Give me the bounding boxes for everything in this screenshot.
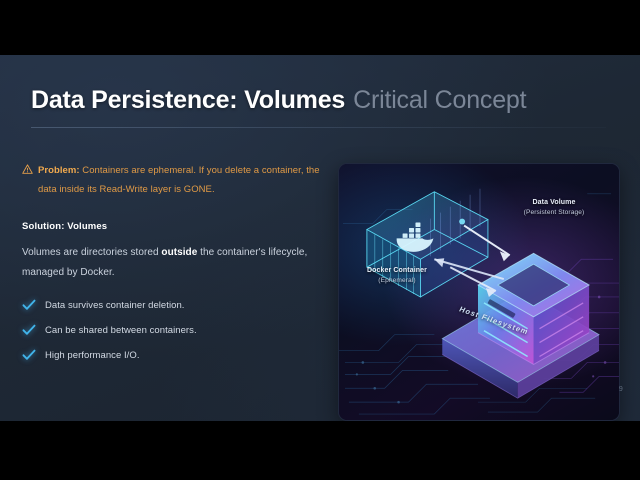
problem-callout: Problem: Containers are ephemeral. If yo… [22,162,328,199]
check-icon [22,349,36,361]
label-docker-container: Docker Container (Ephemeral) [338,266,457,286]
solution-body: Volumes are directories stored outside t… [22,243,312,282]
page-title: Data Persistence: VolumesCritical Concep… [31,88,611,113]
solution-body-part1: Volumes are directories stored [22,247,161,258]
list-item-label: High performance I/O. [45,350,140,361]
slide-viewer: Data Persistence: VolumesCritical Concep… [0,0,640,480]
benefits-list: Data survives container deletion. Can be… [22,300,328,362]
problem-text: Containers are ephemeral. If you delete … [38,165,320,195]
solution-body-emphasis: outside [161,247,197,258]
illustration-panel: Data Volume (Persistent Storage) Docker … [338,163,620,421]
check-icon [22,299,36,311]
list-item: Data survives container deletion. [22,300,328,312]
check-icon [22,324,36,336]
label-data-volume-sub: (Persistent Storage) [499,208,609,218]
slide-header: Data Persistence: VolumesCritical Concep… [31,88,611,113]
label-docker-container-title: Docker Container [367,267,427,274]
warning-triangle-icon [22,164,33,174]
content-left-column: Problem: Containers are ephemeral. If yo… [22,162,328,362]
problem-label: Problem: [38,165,80,176]
page-title-main: Data Persistence: Volumes [31,86,345,114]
header-divider [31,127,606,128]
list-item-label: Data survives container deletion. [45,300,184,311]
label-data-volume-title: Data Volume [533,199,576,206]
letterbox-top [0,0,640,55]
list-item-label: Can be shared between containers. [45,325,197,336]
label-docker-container-sub: (Ephemeral) [338,276,457,286]
label-data-volume: Data Volume (Persistent Storage) [499,198,609,218]
page-number: 9 [619,386,623,393]
list-item: Can be shared between containers. [22,325,328,337]
page-title-subtitle: Critical Concept [353,86,526,114]
solution-heading: Solution: Volumes [22,221,328,232]
slide-canvas: Data Persistence: VolumesCritical Concep… [0,55,640,421]
letterbox-bottom [0,421,640,480]
list-item: High performance I/O. [22,350,328,362]
